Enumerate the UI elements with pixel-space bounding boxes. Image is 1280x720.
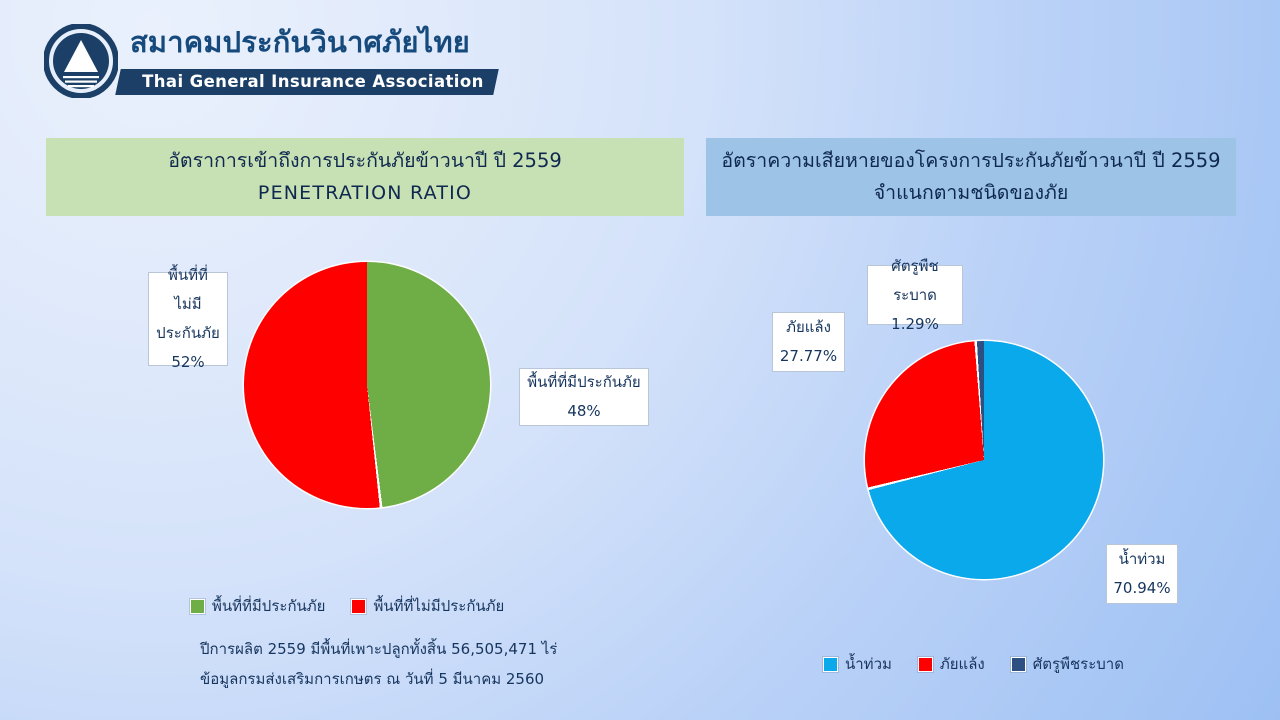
callout-insured-area: พื้นที่ที่มีประกันภัย 48% [519,368,649,426]
legend-label-drought: ภัยแล้ง [940,652,985,676]
left-chart-legend: พื้นที่ที่มีประกันภัย พื้นที่ที่ไม่มีประ… [190,594,530,618]
callout-drought-label: ภัยแล้ง [786,313,831,342]
callout-pest-outbreak: ศัตรูพืชระบาด 1.29% [867,265,963,325]
logo-thai-name: สมาคมประกันวินาศภัยไทย [130,24,470,60]
legend-item-insured: พื้นที่ที่มีประกันภัย [190,594,325,618]
callout-drought: ภัยแล้ง 27.77% [772,312,845,372]
triangle-in-circle-logo-icon [44,24,118,98]
legend-label-pest: ศัตรูพืชระบาด [1033,652,1124,676]
callout-uninsured-area: พื้นที่ที่ไม่มี ประกันภัย 52% [148,272,228,366]
callout-pest-value: 1.29% [891,310,939,339]
right-chart-title-line1: อัตราความเสียหายของโครงการประกันภัยข้าวน… [721,145,1220,177]
penetration-ratio-pie-chart [244,262,490,508]
footnote-line-1: ปีการผลิต 2559 มีพื้นที่เพาะปลูกทั้งสิ้น… [200,634,557,664]
logo-english-name: Thai General Insurance Association [142,72,484,91]
legend-label-uninsured: พื้นที่ที่ไม่มีประกันภัย [373,594,504,618]
right-chart-title-banner: อัตราความเสียหายของโครงการประกันภัยข้าวน… [706,138,1236,216]
callout-uninsured-label-line1: พื้นที่ที่ไม่มี [155,261,221,319]
footnote-line-2: ข้อมูลกรมส่งเสริมการเกษตร ณ วันที่ 5 มีน… [200,664,557,694]
callout-insured-value: 48% [567,397,600,426]
callout-pest-label: ศัตรูพืชระบาด [874,252,956,310]
callout-flood: น้ำท่วม 70.94% [1106,544,1178,604]
legend-swatch-red-icon [918,657,933,672]
association-logo: สมาคมประกันวินาศภัยไทย Thai General Insu… [44,22,424,100]
legend-item-flood: น้ำท่วม [823,652,892,676]
legend-swatch-red-icon [351,599,366,614]
legend-label-flood: น้ำท่วม [845,652,892,676]
right-chart-title-line2: จำแนกตามชนิดของภัย [874,177,1069,209]
callout-uninsured-label-line2: ประกันภัย [156,319,220,348]
left-chart-footnote: ปีการผลิต 2559 มีพื้นที่เพาะปลูกทั้งสิ้น… [200,634,557,694]
left-chart-title-line2: PENETRATION RATIO [258,177,472,209]
legend-label-insured: พื้นที่ที่มีประกันภัย [212,594,325,618]
damage-ratio-pie-chart [865,341,1103,579]
callout-flood-value: 70.94% [1113,574,1170,603]
callout-flood-label: น้ำท่วม [1119,545,1166,574]
callout-drought-value: 27.77% [780,342,837,371]
legend-item-uninsured: พื้นที่ที่ไม่มีประกันภัย [351,594,504,618]
callout-uninsured-value: 52% [171,348,204,377]
legend-item-drought: ภัยแล้ง [918,652,985,676]
callout-insured-label: พื้นที่ที่มีประกันภัย [527,368,640,397]
legend-swatch-navy-icon [1011,657,1026,672]
legend-swatch-cyan-icon [823,657,838,672]
left-chart-title-banner: อัตราการเข้าถึงการประกันภัยข้าวนาปี ปี 2… [46,138,684,216]
legend-swatch-green-icon [190,599,205,614]
left-chart-title-line1: อัตราการเข้าถึงการประกันภัยข้าวนาปี ปี 2… [168,145,562,177]
slide-canvas: สมาคมประกันวินาศภัยไทย Thai General Insu… [0,0,1280,720]
legend-item-pest: ศัตรูพืชระบาด [1011,652,1124,676]
logo-english-banner: Thai General Insurance Association [115,69,498,95]
right-chart-legend: น้ำท่วม ภัยแล้ง ศัตรูพืชระบาด [823,652,1150,676]
